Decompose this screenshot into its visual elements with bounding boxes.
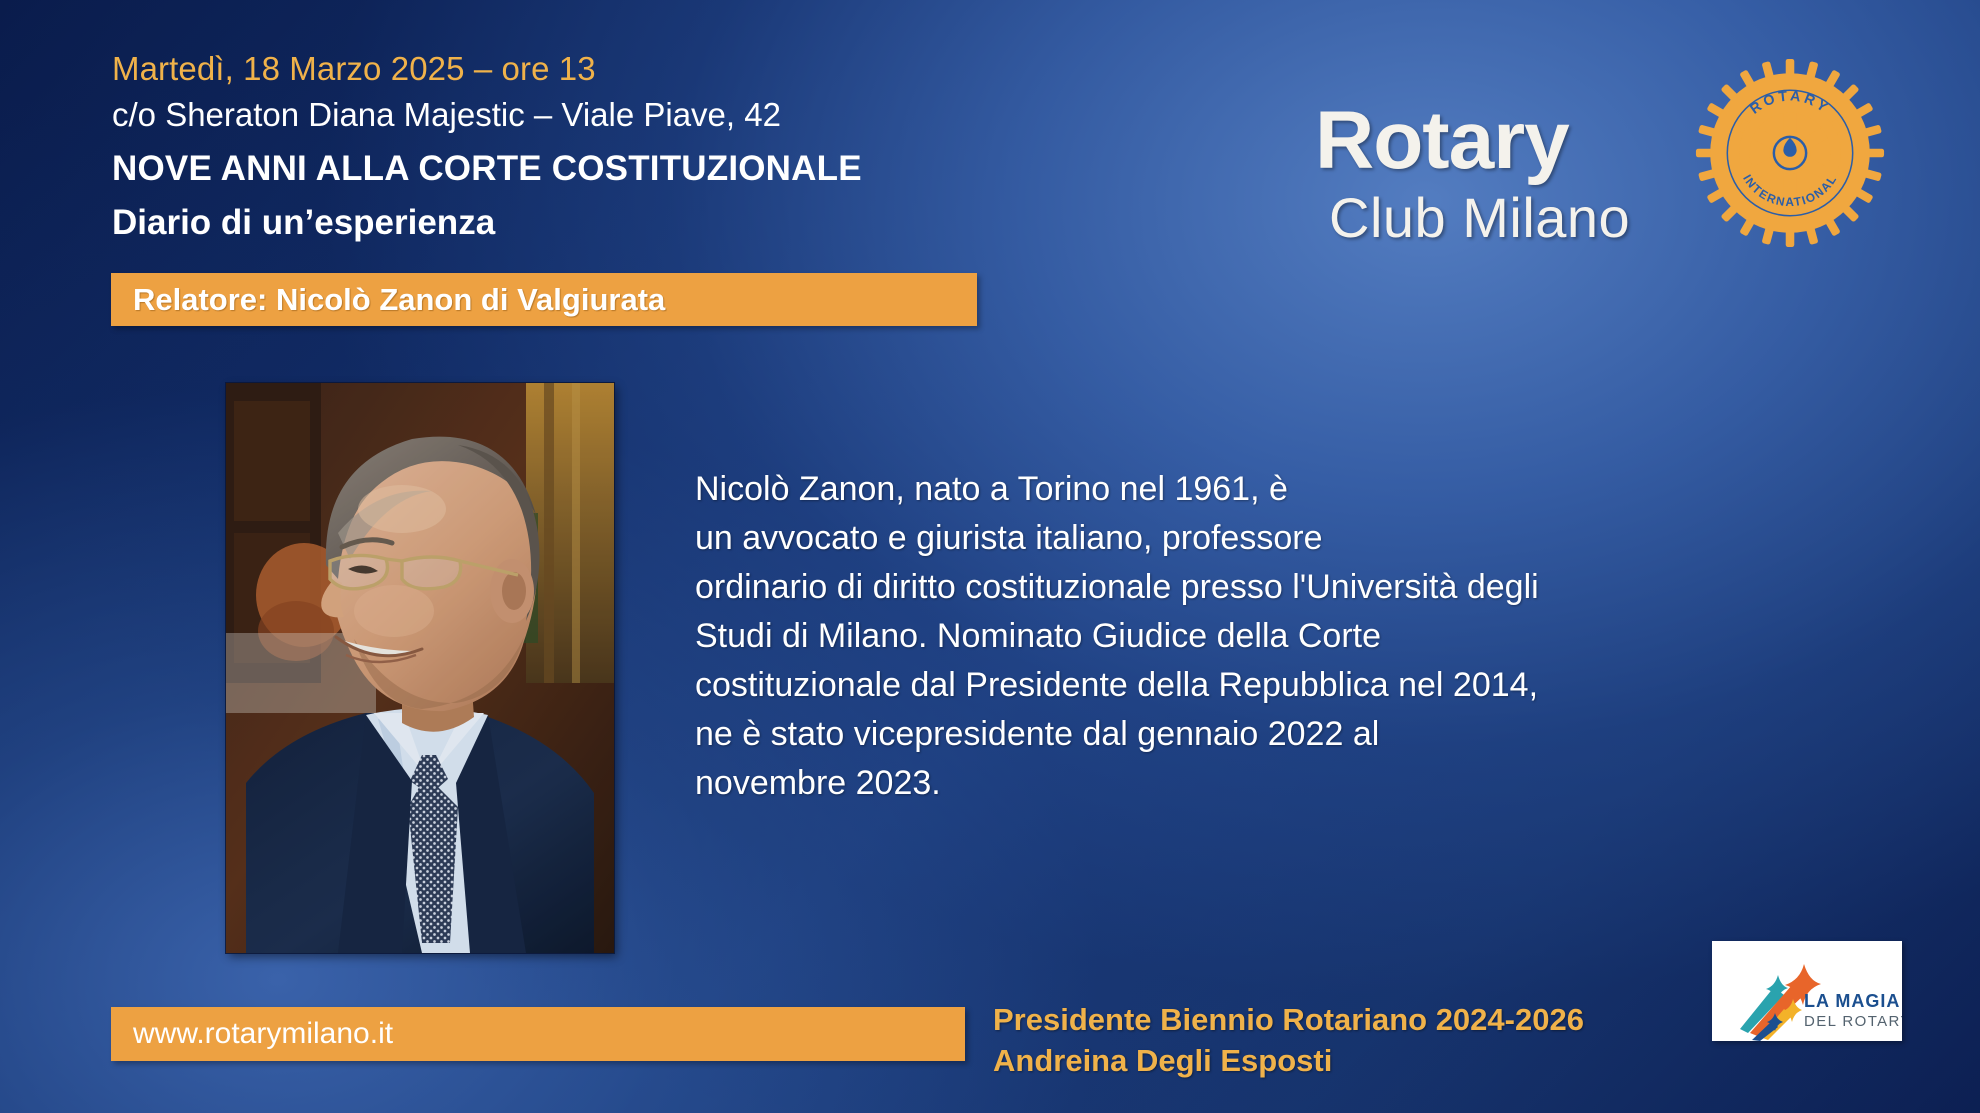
president-name: Andreina Degli Esposti xyxy=(993,1040,1653,1081)
bio-line: costituzionale dal Presidente della Repu… xyxy=(695,661,1655,710)
la-magia-del-rotary-logo: LA MAGIA DEL ROTARY xyxy=(1712,941,1902,1041)
event-header: Martedì, 18 Marzo 2025 – ore 13 c/o Sher… xyxy=(112,48,1212,245)
speaker-bio: Nicolò Zanon, nato a Torino nel 1961, è … xyxy=(695,465,1655,808)
rotary-wheel-icon: ROTARY INTERNATIONAL xyxy=(1695,58,1885,248)
bio-line: Studi di Milano. Nominato Giudice della … xyxy=(695,612,1655,661)
event-title: NOVE ANNI ALLA CORTE COSTITUZIONALE xyxy=(112,146,1212,192)
event-venue: c/o Sheraton Diana Majestic – Viale Piav… xyxy=(112,94,1212,137)
website-bar[interactable]: www.rotarymilano.it xyxy=(111,1007,965,1061)
bio-line: Nicolò Zanon, nato a Torino nel 1961, è xyxy=(695,465,1655,514)
event-date: Martedì, 18 Marzo 2025 – ore 13 xyxy=(112,48,1212,90)
club-milano-label: Club Milano xyxy=(1329,190,1630,246)
bio-line: un avvocato e giurista italiano, profess… xyxy=(695,514,1655,563)
event-slide: Martedì, 18 Marzo 2025 – ore 13 c/o Sher… xyxy=(0,0,1980,1113)
magia-line1: LA MAGIA xyxy=(1804,991,1900,1011)
rotary-wordmark: Rotary xyxy=(1315,100,1569,182)
speaker-portrait-photo xyxy=(226,383,614,953)
rotary-club-milano-logo: Rotary Club Milano xyxy=(1315,58,1915,278)
bio-line: novembre 2023. xyxy=(695,759,1655,808)
bio-line: ne è stato vicepresidente dal gennaio 20… xyxy=(695,710,1655,759)
speaker-banner-label: Relatore: Nicolò Zanon di Valgiurata xyxy=(111,282,665,318)
president-title: Presidente Biennio Rotariano 2024-2026 xyxy=(993,999,1653,1040)
website-url[interactable]: www.rotarymilano.it xyxy=(111,1017,393,1051)
bio-line: ordinario di diritto costituzionale pres… xyxy=(695,563,1655,612)
magia-line2: DEL ROTARY xyxy=(1804,1013,1902,1030)
event-subtitle: Diario di un’esperienza xyxy=(112,200,1212,246)
speaker-banner: Relatore: Nicolò Zanon di Valgiurata xyxy=(111,273,977,326)
president-block: Presidente Biennio Rotariano 2024-2026 A… xyxy=(993,999,1653,1081)
